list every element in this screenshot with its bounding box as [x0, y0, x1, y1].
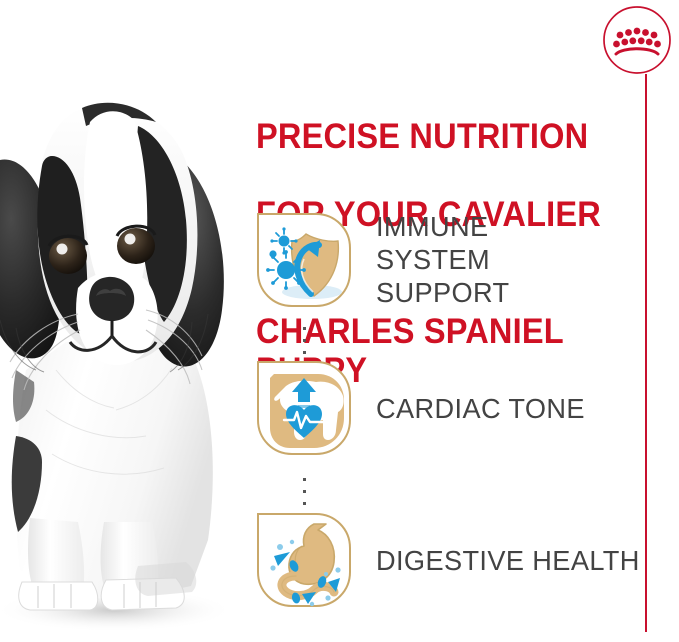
benefit-label-immune: IMMUNE SYSTEM SUPPORT: [376, 210, 510, 309]
benefit-item-digestive: DIGESTIVE HEALTH: [256, 512, 648, 608]
connector-dotted-line-2: [303, 478, 306, 514]
advertisement-canvas: PRECISE NUTRITION FOR YOUR CAVALIER KING…: [0, 0, 679, 642]
cardiac-heart-dog-icon: [256, 360, 352, 456]
puppy-photo: [0, 70, 254, 642]
logo-circle-icon: [604, 7, 670, 73]
benefit-item-cardiac: CARDIAC TONE: [256, 360, 591, 456]
crown-dots-icon: [613, 28, 661, 48]
benefit-item-immune: IMMUNE SYSTEM SUPPORT: [256, 210, 514, 309]
royal-canin-logo: [596, 4, 678, 82]
benefit-label-cardiac: CARDIAC TONE: [376, 392, 585, 425]
crown-arc-icon: [616, 49, 658, 54]
digestive-stomach-icon: [256, 512, 352, 608]
headline-line-1: PRECISE NUTRITION: [256, 117, 628, 156]
benefit-label-digestive: DIGESTIVE HEALTH: [376, 544, 640, 577]
connector-dotted-line-1: [303, 327, 306, 363]
immune-shield-icon: [256, 212, 352, 308]
